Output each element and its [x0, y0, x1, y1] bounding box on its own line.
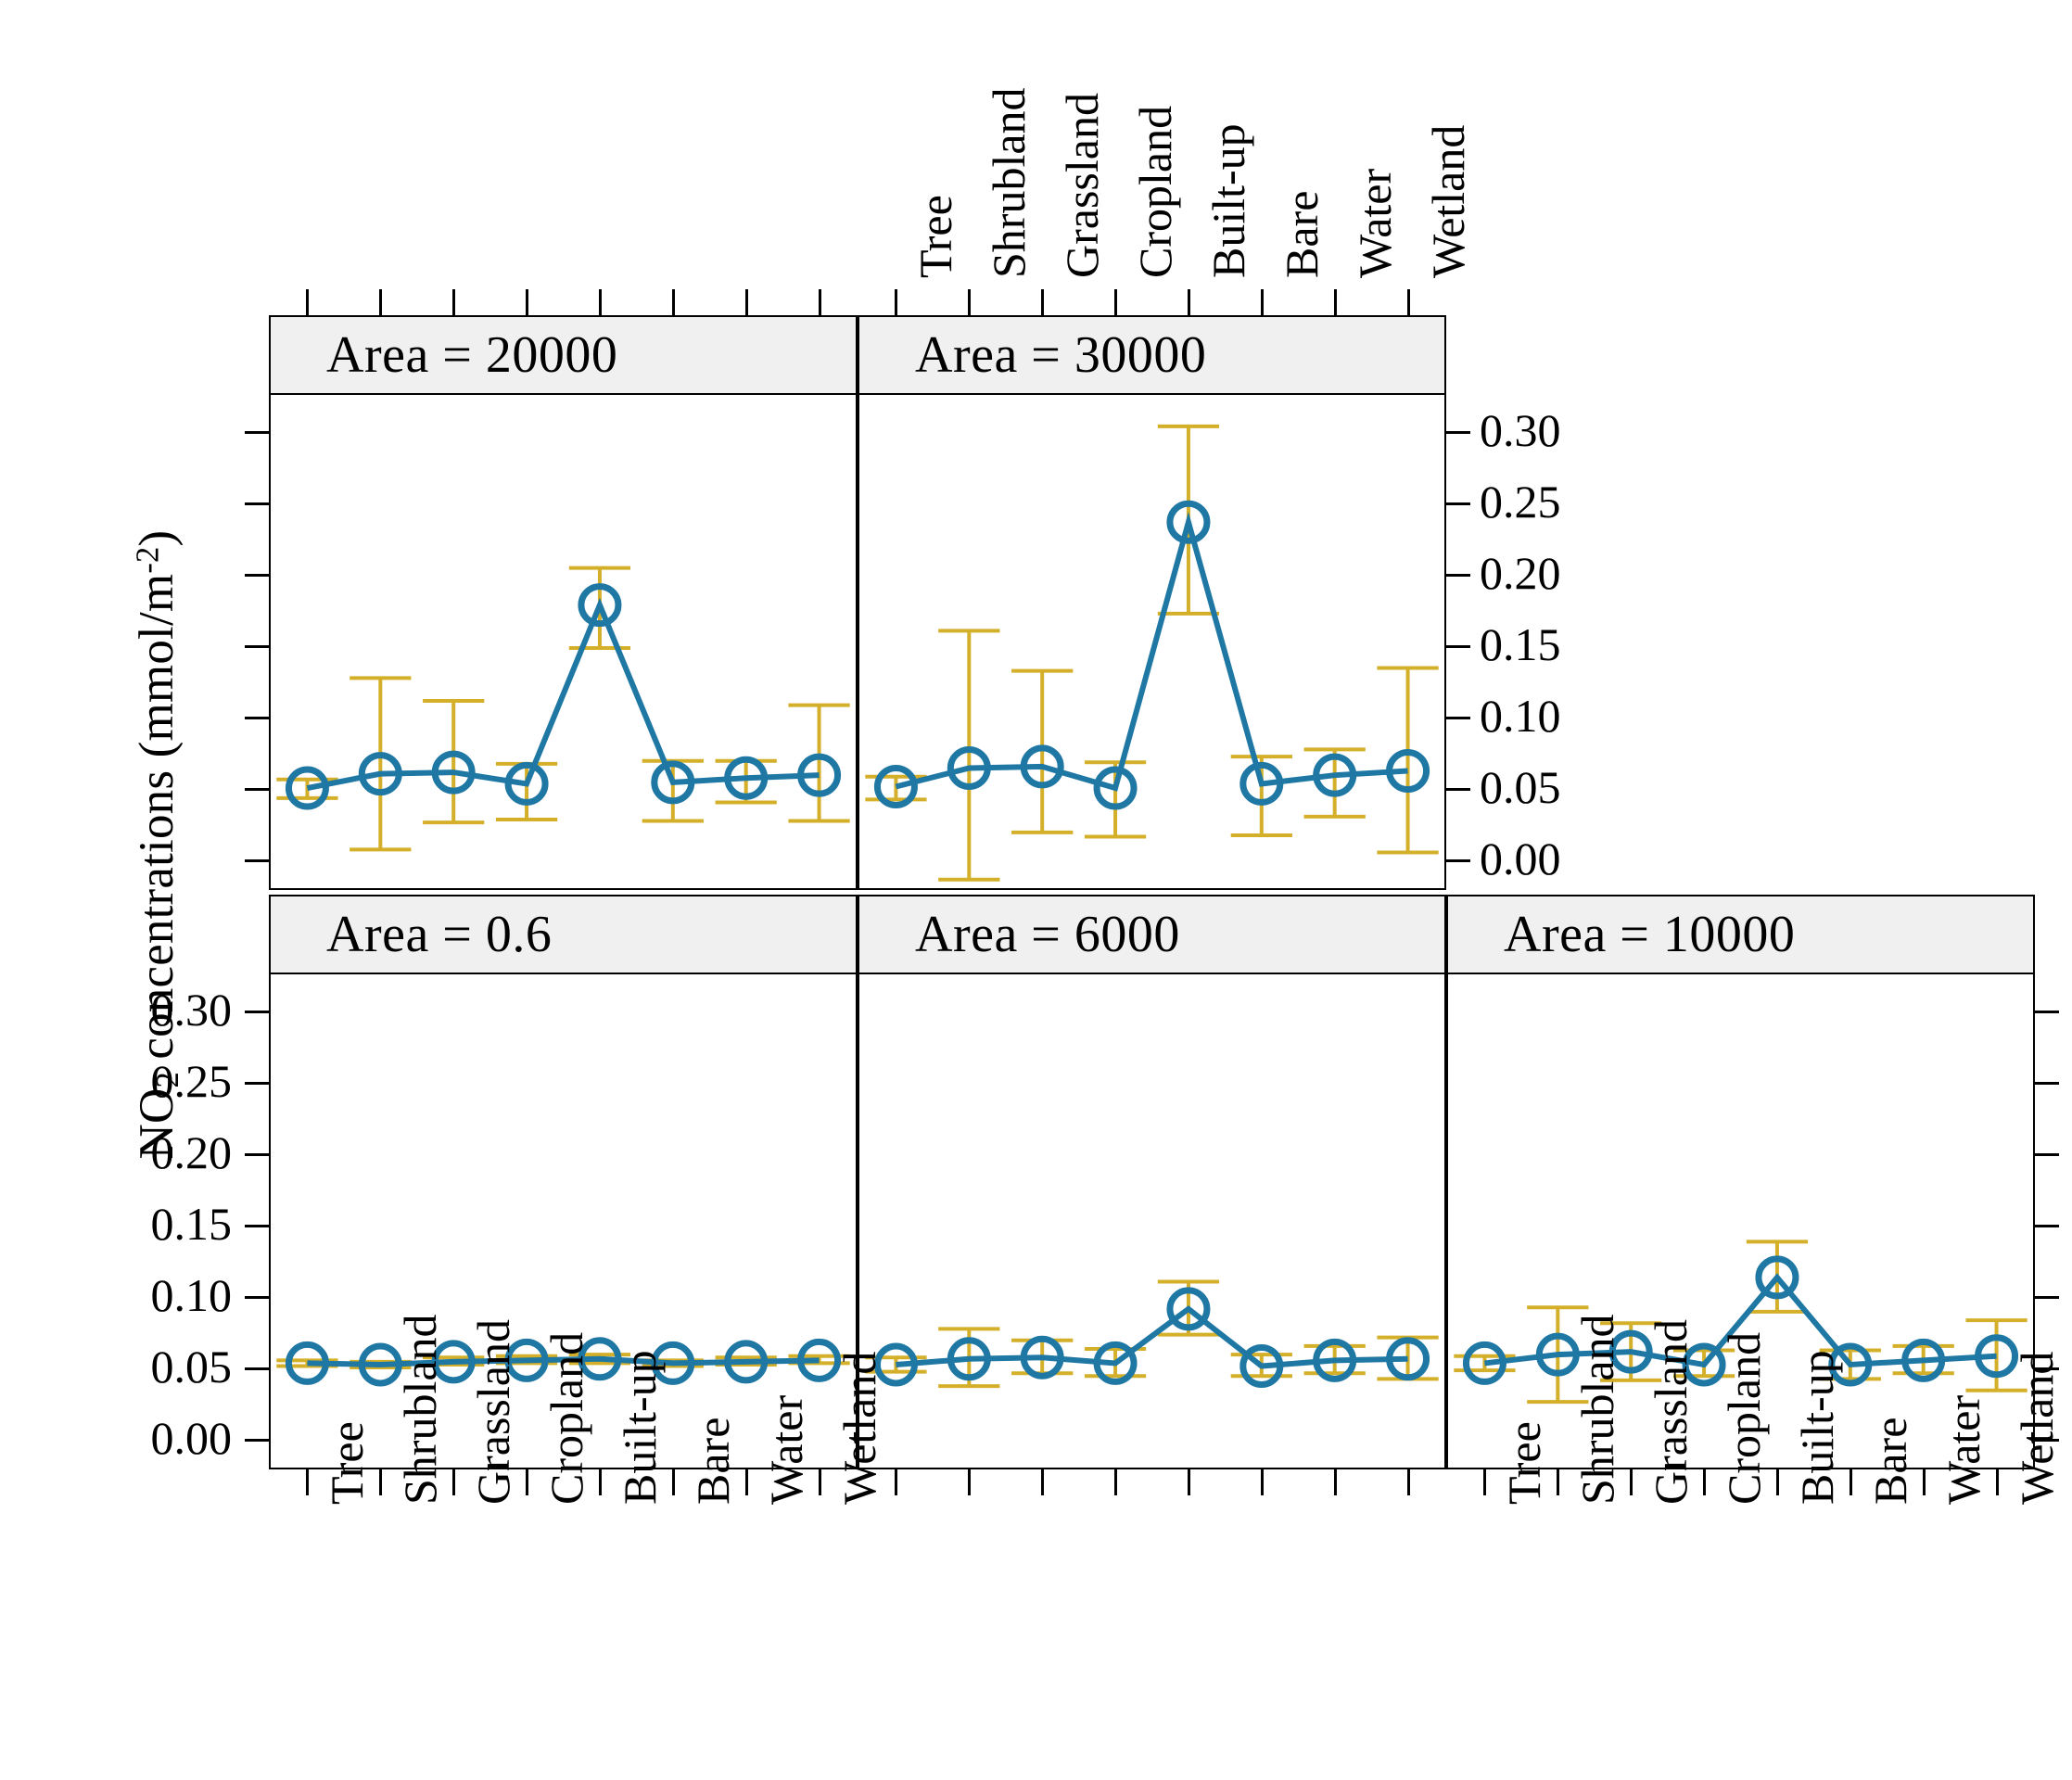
plot-area	[858, 974, 1446, 1469]
y-tick-right	[1446, 859, 1470, 862]
x-tick-top	[452, 289, 455, 315]
x-tick-label-bottom: Water	[1940, 1395, 1987, 1505]
x-tick-top	[526, 289, 528, 315]
x-tick-top	[379, 289, 382, 315]
x-tick-label-top: Water	[1352, 169, 1398, 278]
x-tick-bottom	[379, 1469, 382, 1495]
x-tick-bottom	[1041, 1469, 1044, 1495]
x-tick-label-top: Tree	[912, 195, 959, 278]
x-tick-bottom	[1483, 1469, 1486, 1495]
x-tick-label-bottom: Wetland	[2014, 1352, 2060, 1505]
series-plot	[859, 974, 1444, 1468]
y-tick-left	[245, 859, 269, 862]
series-plot	[271, 395, 856, 888]
x-tick-top	[895, 289, 897, 315]
x-tick-label-bottom: Grassland	[470, 1319, 516, 1505]
x-tick-top	[1334, 289, 1337, 315]
x-tick-bottom	[452, 1469, 455, 1495]
x-tick-label-bottom: Cropland	[1721, 1332, 1767, 1505]
x-tick-label-bottom: Bare	[1867, 1418, 1913, 1505]
y-tick-right	[1446, 717, 1470, 719]
x-tick-top	[1114, 289, 1117, 315]
x-tick-top	[599, 289, 602, 315]
x-tick-label-bottom: Cropland	[543, 1332, 590, 1505]
facet-panel: Area = 6000	[858, 895, 1446, 1469]
y-tick-left	[245, 1011, 269, 1013]
y-tick-right	[2035, 1153, 2059, 1156]
x-tick-bottom	[895, 1469, 897, 1495]
y-tick-label: 0.05	[46, 1343, 232, 1390]
y-tick-label: 0.15	[46, 1201, 232, 1247]
x-tick-label-bottom: Tree	[324, 1421, 370, 1505]
y-tick-right	[2035, 1225, 2059, 1227]
x-tick-label-top: Cropland	[1132, 106, 1178, 278]
panel-strip-label: Area = 20000	[269, 315, 858, 395]
x-tick-label-bottom: Built-up	[1794, 1350, 1840, 1505]
error-bar	[350, 678, 411, 849]
error-bar	[496, 764, 557, 820]
series-plot	[859, 395, 1444, 888]
y-tick-label: 0.30	[1480, 407, 1561, 453]
x-tick-bottom	[1407, 1469, 1410, 1495]
x-tick-bottom	[672, 1469, 675, 1495]
y-tick-label: 0.10	[46, 1272, 232, 1318]
x-tick-top	[306, 289, 309, 315]
plot-area	[269, 395, 858, 890]
y-tick-right	[1446, 788, 1470, 791]
x-tick-label-top: Grassland	[1059, 93, 1105, 278]
x-tick-bottom	[1776, 1469, 1779, 1495]
x-tick-top	[1188, 289, 1190, 315]
error-bar	[788, 706, 849, 821]
x-tick-bottom	[1334, 1469, 1337, 1495]
x-tick-top	[1407, 289, 1410, 315]
y-tick-label: 0.15	[1480, 621, 1561, 667]
x-tick-bottom	[1557, 1469, 1559, 1495]
x-tick-bottom	[1261, 1469, 1264, 1495]
y-tick-left	[245, 1439, 269, 1442]
y-tick-left	[245, 1082, 269, 1085]
y-tick-right	[1446, 502, 1470, 505]
x-tick-bottom	[1703, 1469, 1706, 1495]
x-tick-bottom	[1850, 1469, 1852, 1495]
x-tick-top	[1041, 289, 1044, 315]
x-tick-top	[1261, 289, 1264, 315]
error-bar	[1011, 671, 1073, 833]
y-tick-label: 0.20	[46, 1129, 232, 1176]
y-tick-right	[2035, 1011, 2059, 1013]
y-tick-right	[1446, 645, 1470, 648]
x-tick-label-bottom: Bare	[690, 1418, 736, 1505]
x-tick-top	[819, 289, 821, 315]
x-tick-label-top: Bare	[1278, 191, 1325, 278]
x-tick-bottom	[745, 1469, 748, 1495]
y-tick-label: 0.20	[1480, 550, 1561, 596]
y-tick-left	[245, 1225, 269, 1227]
x-tick-bottom	[599, 1469, 602, 1495]
x-tick-label-top: Wetland	[1425, 125, 1471, 278]
y-tick-left	[245, 1153, 269, 1156]
x-tick-label-bottom: Tree	[1501, 1421, 1547, 1505]
y-tick-left	[245, 1367, 269, 1370]
x-tick-label-bottom: Wetland	[836, 1352, 883, 1505]
error-bar	[1085, 762, 1146, 836]
y-axis-title-close: )	[130, 530, 184, 547]
facet-panel: Area = 20000	[269, 315, 858, 890]
facet-panel: Area = 30000	[858, 315, 1446, 890]
error-bar	[938, 630, 999, 879]
x-tick-bottom	[968, 1469, 971, 1495]
x-tick-bottom	[1114, 1469, 1117, 1495]
y-tick-label: 0.25	[46, 1058, 232, 1104]
panel-strip-label: Area = 6000	[858, 895, 1446, 974]
x-tick-top	[672, 289, 675, 315]
x-tick-label-bottom: Built-up	[617, 1350, 663, 1505]
error-bar	[1377, 668, 1438, 853]
x-tick-label-bottom: Grassland	[1647, 1319, 1694, 1505]
x-tick-top	[968, 289, 971, 315]
x-tick-bottom	[526, 1469, 528, 1495]
y-tick-right	[1446, 574, 1470, 577]
y-tick-right	[2035, 1082, 2059, 1085]
x-tick-top	[745, 289, 748, 315]
x-tick-bottom	[1996, 1469, 1999, 1495]
x-tick-bottom	[306, 1469, 309, 1495]
x-tick-bottom	[1188, 1469, 1190, 1495]
x-tick-bottom	[819, 1469, 821, 1495]
y-tick-label: 0.25	[1480, 478, 1561, 525]
y-tick-label: 0.00	[1480, 835, 1561, 882]
panel-strip-label: Area = 10000	[1446, 895, 2035, 974]
x-tick-label-bottom: Shrubland	[1574, 1314, 1621, 1505]
x-tick-label-bottom: Water	[763, 1395, 809, 1505]
x-tick-bottom	[1630, 1469, 1633, 1495]
figure-root: NO2 concentrations (mmol/m-2) Area = 200…	[0, 0, 2072, 1780]
y-tick-left	[245, 788, 269, 791]
error-bar	[642, 761, 704, 821]
y-axis-title-sup: -2	[130, 547, 165, 574]
y-tick-left	[245, 574, 269, 577]
y-tick-label: 0.30	[46, 986, 232, 1033]
y-tick-right	[2035, 1296, 2059, 1299]
y-tick-right	[1446, 431, 1470, 434]
y-tick-label: 0.00	[46, 1415, 232, 1461]
plot-area	[858, 395, 1446, 890]
panel-strip-label: Area = 30000	[858, 315, 1446, 395]
y-tick-label: 0.05	[1480, 764, 1561, 810]
x-tick-label-top: Shrubland	[985, 87, 1032, 278]
y-tick-label: 0.10	[1480, 693, 1561, 739]
y-tick-left	[245, 645, 269, 648]
y-tick-left	[245, 431, 269, 434]
x-tick-label-top: Built-up	[1205, 123, 1252, 278]
error-bar	[423, 701, 484, 822]
panel-strip-label: Area = 0.6	[269, 895, 858, 974]
x-tick-label-bottom: Shrubland	[397, 1314, 443, 1505]
y-tick-left	[245, 1296, 269, 1299]
y-tick-left	[245, 502, 269, 505]
x-tick-bottom	[1923, 1469, 1926, 1495]
y-tick-left	[245, 717, 269, 719]
